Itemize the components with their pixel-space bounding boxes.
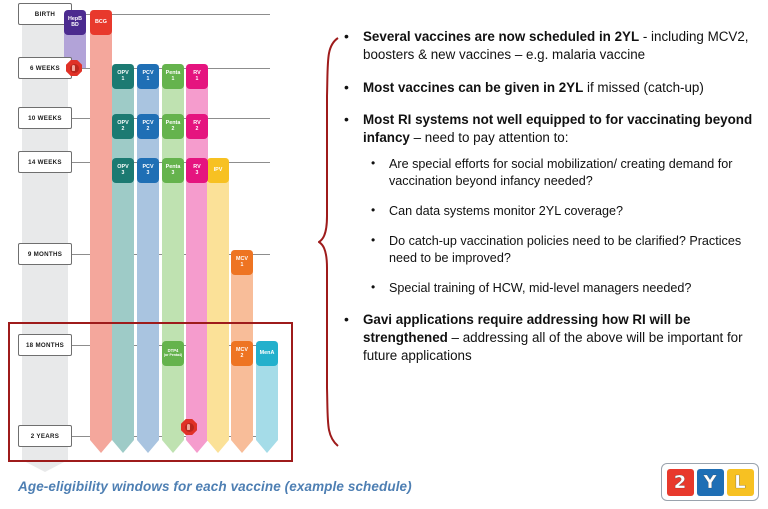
vaccine-chip-ipv: IPV [207,158,229,183]
sub-bullet-list-3: Are special efforts for social mobilizat… [363,156,768,296]
vaccine-chip-mcv-1: MCV1 [231,250,253,275]
vaccine-chip-pcv-2: PCV2 [137,114,159,139]
vaccine-chip-rv-2: RV2 [186,114,208,139]
vaccine-chip-rv-3: RV3 [186,158,208,183]
chart-caption: Age-eligibility windows for each vaccine… [18,479,412,494]
sub-bullet-item-3-3: Do catch-up vaccination policies need to… [363,233,768,267]
bullet-item-3: Most RI systems not well equipped to for… [340,111,768,296]
bullet-item-4: Gavi applications require addressing how… [340,311,768,364]
age-label-6-weeks: 6 WEEKS [18,57,72,79]
hepb-end-marker [66,60,82,76]
age-eligibility-chart: BIRTH6 WEEKS10 WEEKS14 WEEKS9 MONTHS18 M… [0,0,300,470]
bullet-3-rest-text: – need to pay attention to: [410,130,569,145]
sub-bullet-item-3-1: Are special efforts for social mobilizat… [363,156,768,190]
2yl-logo: 2YL [661,463,759,501]
bullet-list: Several vaccines are now scheduled in 2Y… [340,28,768,380]
vaccine-chip-penta-1: Penta1 [162,64,184,89]
age-label-14-weeks: 14 WEEKS [18,151,72,173]
sub-bullet-item-3-4: Special training of HCW, mid-level manag… [363,280,768,297]
bullet-text-panel: Several vaccines are now scheduled in 2Y… [318,28,768,448]
logo-tile-l: L [727,469,754,496]
vaccine-chip-rv-1: RV1 [186,64,208,89]
vaccine-chip-opv-3: OPV3 [112,158,134,183]
age-label-10-weeks: 10 WEEKS [18,107,72,129]
bullet-item-1: Several vaccines are now scheduled in 2Y… [340,28,768,64]
vaccine-chip-pcv-3: PCV3 [137,158,159,183]
vaccine-chip-penta-2: Penta2 [162,114,184,139]
logo-tile-y: Y [697,469,724,496]
bullet-item-2: Most vaccines can be given in 2YL if mis… [340,79,768,97]
vaccine-chip-opv-1: OPV1 [112,64,134,89]
vaccine-chip-opv-2: OPV2 [112,114,134,139]
bullet-1-bold-text: Several vaccines are now scheduled in 2Y… [363,29,639,44]
focus-highlight-box [8,322,293,462]
bullet-2-rest-text: if missed (catch-up) [583,80,704,95]
vaccine-chip-hepb-bd: HepBBD [64,10,86,35]
sub-bullet-item-3-2: Can data systems monitor 2YL coverage? [363,203,768,220]
logo-tile-2: 2 [667,469,694,496]
age-label-9-months: 9 MONTHS [18,243,72,265]
bullet-2-bold-text: Most vaccines can be given in 2YL [363,80,583,95]
curly-brace-icon [318,36,342,448]
vaccine-chip-bcg: BCG [90,10,112,35]
vaccine-chip-penta-3: Penta3 [162,158,184,183]
stop-hand-icon [70,64,79,73]
vaccine-chip-pcv-1: PCV1 [137,64,159,89]
